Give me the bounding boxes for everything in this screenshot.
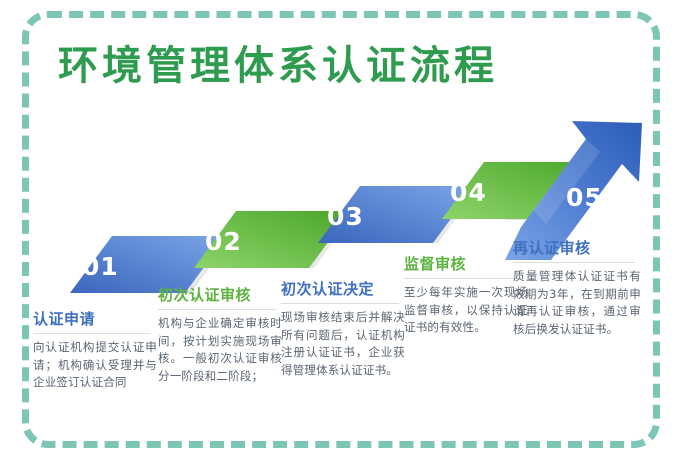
step-number-02: 02 [205, 227, 242, 256]
step-block-05: 再认证审核 质量管理体认证证书有效期为3年，在到期前申请再认证审核，通过审核后换… [513, 239, 641, 338]
step-body-03: 现场审核结束后并解决所有问题后，认证机构注册认证证书，企业获得管理体系认证证书。 [281, 309, 405, 379]
process-shapes-svg [0, 0, 693, 467]
step-divider-02 [158, 309, 276, 310]
step-body-04: 至少每年实施一次现场监督审核，以保持认证证书的有效性。 [404, 284, 528, 337]
step-block-04: 监督审核 至少每年实施一次现场监督审核，以保持认证证书的有效性。 [404, 255, 528, 337]
infographic-canvas: 环境管理体系认证流程 [0, 0, 693, 467]
step-body-05: 质量管理体认证证书有效期为3年，在到期前申请再认证审核，通过审核后换发认证证书。 [513, 268, 641, 338]
step-body-01: 向认证机构提交认证申请；机构确认受理并与企业签订认证合同 [33, 339, 157, 392]
step-heading-03: 初次认证决定 [281, 280, 405, 299]
step-heading-05: 再认证审核 [513, 239, 641, 258]
step-number-01: 01 [82, 252, 119, 281]
step-heading-04: 监督审核 [404, 255, 528, 274]
step-divider-03 [281, 303, 399, 304]
step-heading-02: 初次认证审核 [158, 286, 282, 305]
step-body-02: 机构与企业确定审核时间，按计划实施现场审核。一般初次认证审核分一阶段和二阶段； [158, 315, 282, 385]
step-heading-01: 认证申请 [33, 310, 157, 329]
step-number-05: 05 [566, 183, 603, 212]
step-block-01: 认证申请 向认证机构提交认证申请；机构确认受理并与企业签订认证合同 [33, 310, 157, 392]
step-number-03: 03 [327, 202, 364, 231]
step-divider-05 [513, 262, 635, 263]
process-arrow-graphic: 01 02 03 04 05 [0, 0, 693, 467]
step-divider-04 [404, 278, 522, 279]
step-block-02: 初次认证审核 机构与企业确定审核时间，按计划实施现场审核。一般初次认证审核分一阶… [158, 286, 282, 385]
step-block-03: 初次认证决定 现场审核结束后并解决所有问题后，认证机构注册认证证书，企业获得管理… [281, 280, 405, 379]
step-number-04: 04 [450, 178, 487, 207]
step-divider-01 [33, 333, 151, 334]
